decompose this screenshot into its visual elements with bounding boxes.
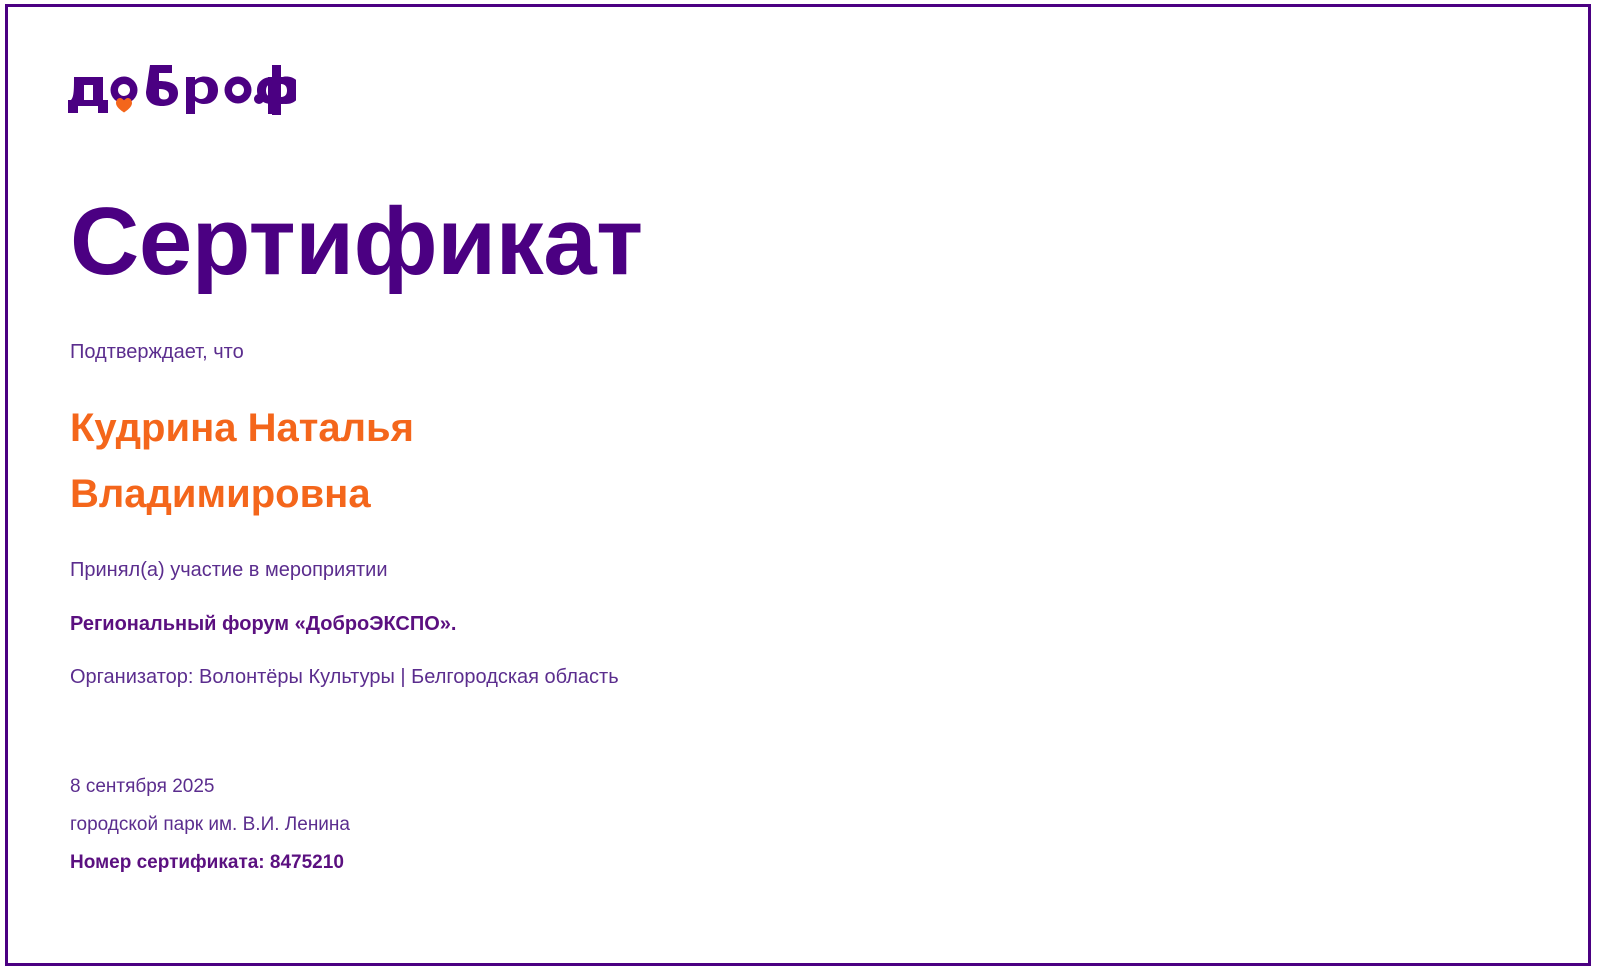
event-date: 8 сентября 2025	[70, 774, 1470, 800]
organizer-text: Организатор: Волонтёры Культуры | Белгор…	[70, 637, 1470, 690]
certificate-content: Сертификат Подтверждает, что Кудрина Нат…	[70, 187, 1470, 876]
participation-text: Принял(а) участие в мероприятии	[70, 527, 1470, 583]
event-name: Региональный форум «ДоброЭКСПО».	[70, 583, 1470, 637]
certificate-footer: 8 сентября 2025 городской парк им. В.И. …	[70, 690, 1470, 876]
intro-text: Подтверждает, что	[70, 297, 1470, 365]
page-title: Сертификат	[70, 187, 1470, 297]
dobro-rf-logo[interactable]	[68, 63, 296, 113]
event-place: городской парк им. В.И. Ленина	[70, 800, 1470, 838]
recipient-name: Кудрина Наталья Владимировна	[70, 365, 590, 527]
certificate-number: Номер сертификата: 8475210	[70, 838, 1470, 876]
dobro-rf-logo-icon	[68, 63, 296, 115]
certificate-card: Сертификат Подтверждает, что Кудрина Нат…	[5, 4, 1591, 966]
